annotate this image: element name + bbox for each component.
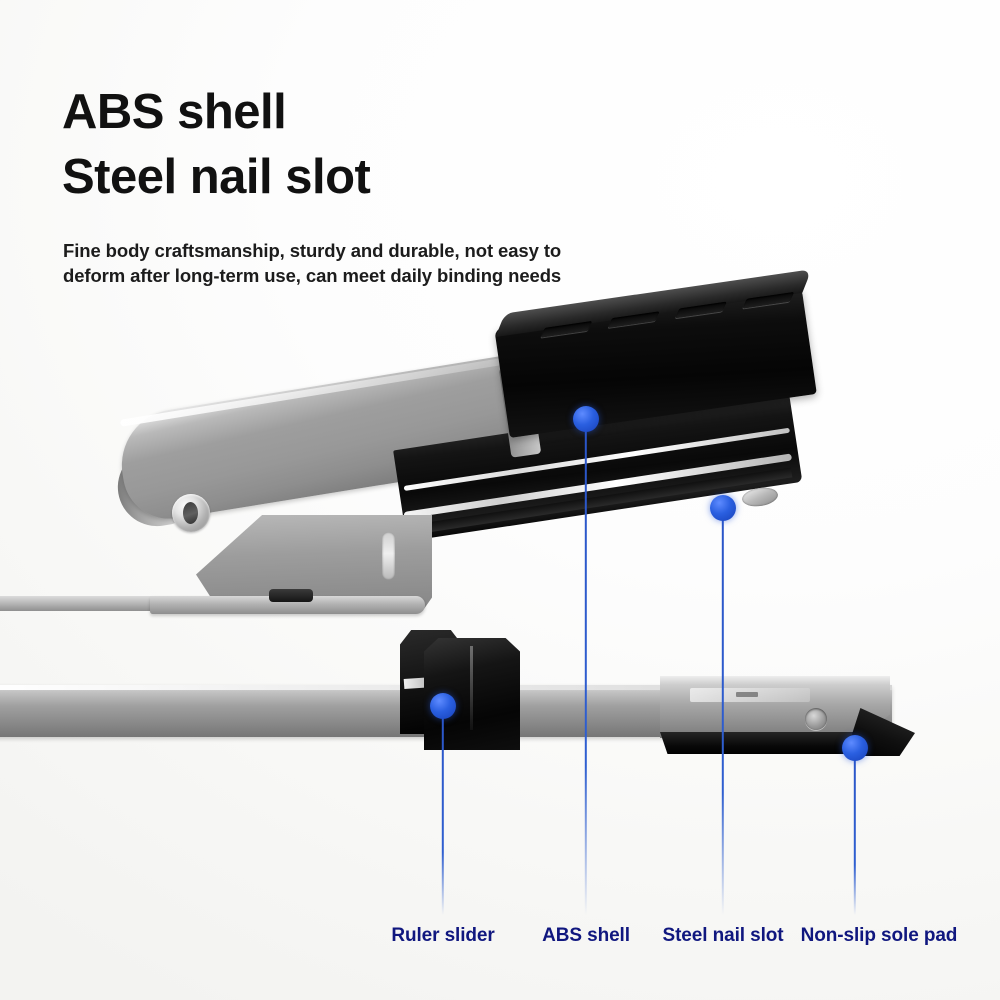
subtitle-line-2: deform after long-term use, can meet dai… xyxy=(63,264,663,289)
leader-line-abs-shell xyxy=(585,419,587,915)
leader-line-steel-nail-slot xyxy=(722,508,724,915)
abs-shell-vent xyxy=(541,321,593,338)
ruler-slider-seam xyxy=(470,646,473,730)
leader-line-non-slip-sole-pad xyxy=(854,748,856,915)
abs-shell-vent xyxy=(675,302,727,319)
callout-label-non-slip-sole-pad: Non-slip sole pad xyxy=(801,925,958,947)
callout-dot-steel-nail-slot[interactable] xyxy=(710,495,736,521)
callout-dot-ruler-slider[interactable] xyxy=(430,693,456,719)
subtitle-line-1: Fine body craftsmanship, sturdy and dura… xyxy=(63,239,663,264)
pivot-screw xyxy=(172,494,210,532)
rail-screw-hole xyxy=(805,708,827,730)
anvil-tab xyxy=(269,589,313,602)
abs-shell-vent xyxy=(608,311,660,328)
callout-dot-abs-shell[interactable] xyxy=(573,406,599,432)
callout-dot-non-slip-sole-pad[interactable] xyxy=(842,735,868,761)
callout-label-abs-shell: ABS shell xyxy=(542,925,630,947)
callout-label-ruler-slider: Ruler slider xyxy=(391,925,494,947)
rail-etch-mark xyxy=(736,692,758,697)
subtitle-text: Fine body craftsmanship, sturdy and dura… xyxy=(63,239,663,288)
callout-label-steel-nail-slot: Steel nail slot xyxy=(663,925,784,947)
leader-line-ruler-slider xyxy=(442,706,444,915)
headline-line-1: ABS shell xyxy=(62,88,682,137)
abs-shell-vent xyxy=(742,292,794,309)
headline-line-2: Steel nail slot xyxy=(62,153,682,202)
page-title: ABS shell Steel nail slot xyxy=(62,88,682,202)
product-feature-image: ABS shell Steel nail slot Fine body craf… xyxy=(0,0,1000,1000)
bracket-slot xyxy=(382,532,395,580)
